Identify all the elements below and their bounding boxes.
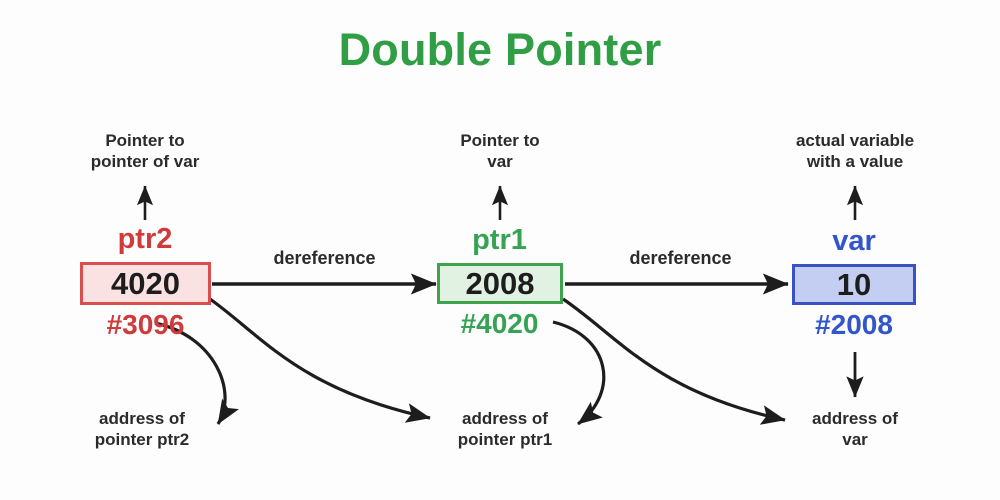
page-title: Double Pointer xyxy=(0,24,1000,76)
label-dereference-2: dereference xyxy=(588,249,773,267)
memory-cell-ptr1[interactable]: 2008 xyxy=(437,263,563,304)
memory-cell-ptr2[interactable]: 4020 xyxy=(80,262,211,305)
label-var-name: var xyxy=(792,227,916,256)
caption-var: actual variable with a value xyxy=(755,130,955,173)
caption-ptr2: Pointer to pointer of var xyxy=(45,130,245,173)
label-var-address: #2008 xyxy=(792,311,916,339)
caption-ptr1: Pointer to var xyxy=(400,130,600,173)
label-ptr1-name: ptr1 xyxy=(436,226,563,255)
caption-var-line2: with a value xyxy=(755,151,955,172)
caption-ptr1-line1: Pointer to xyxy=(400,130,600,151)
label-ptr1-address: #4020 xyxy=(436,310,563,338)
caption-ptr2-line1: Pointer to xyxy=(45,130,245,151)
curve-ptr2-to-ptr1-address xyxy=(210,299,430,418)
footnote-var-address-line1: address of xyxy=(780,408,930,429)
memory-cell-var[interactable]: 10 xyxy=(792,264,916,305)
footnote-ptr1-address-line2: pointer ptr1 xyxy=(425,429,585,450)
footnote-ptr2-address: address of pointer ptr2 xyxy=(62,408,222,451)
footnote-ptr2-address-line2: pointer ptr2 xyxy=(62,429,222,450)
footnote-var-address-line2: var xyxy=(780,429,930,450)
footnote-ptr1-address-line1: address of xyxy=(425,408,585,429)
diagram-canvas: Double Pointer xyxy=(0,0,1000,500)
caption-ptr1-line2: var xyxy=(400,151,600,172)
caption-var-line1: actual variable xyxy=(755,130,955,151)
footnote-ptr2-address-line1: address of xyxy=(62,408,222,429)
footnote-var-address: address of var xyxy=(780,408,930,451)
label-ptr2-address: #3096 xyxy=(80,311,211,339)
curve-ptr1-to-var-address xyxy=(563,299,785,420)
label-ptr2-name: ptr2 xyxy=(80,225,210,254)
caption-ptr2-line2: pointer of var xyxy=(45,151,245,172)
footnote-ptr1-address: address of pointer ptr1 xyxy=(425,408,585,451)
label-dereference-1: dereference xyxy=(232,249,417,267)
